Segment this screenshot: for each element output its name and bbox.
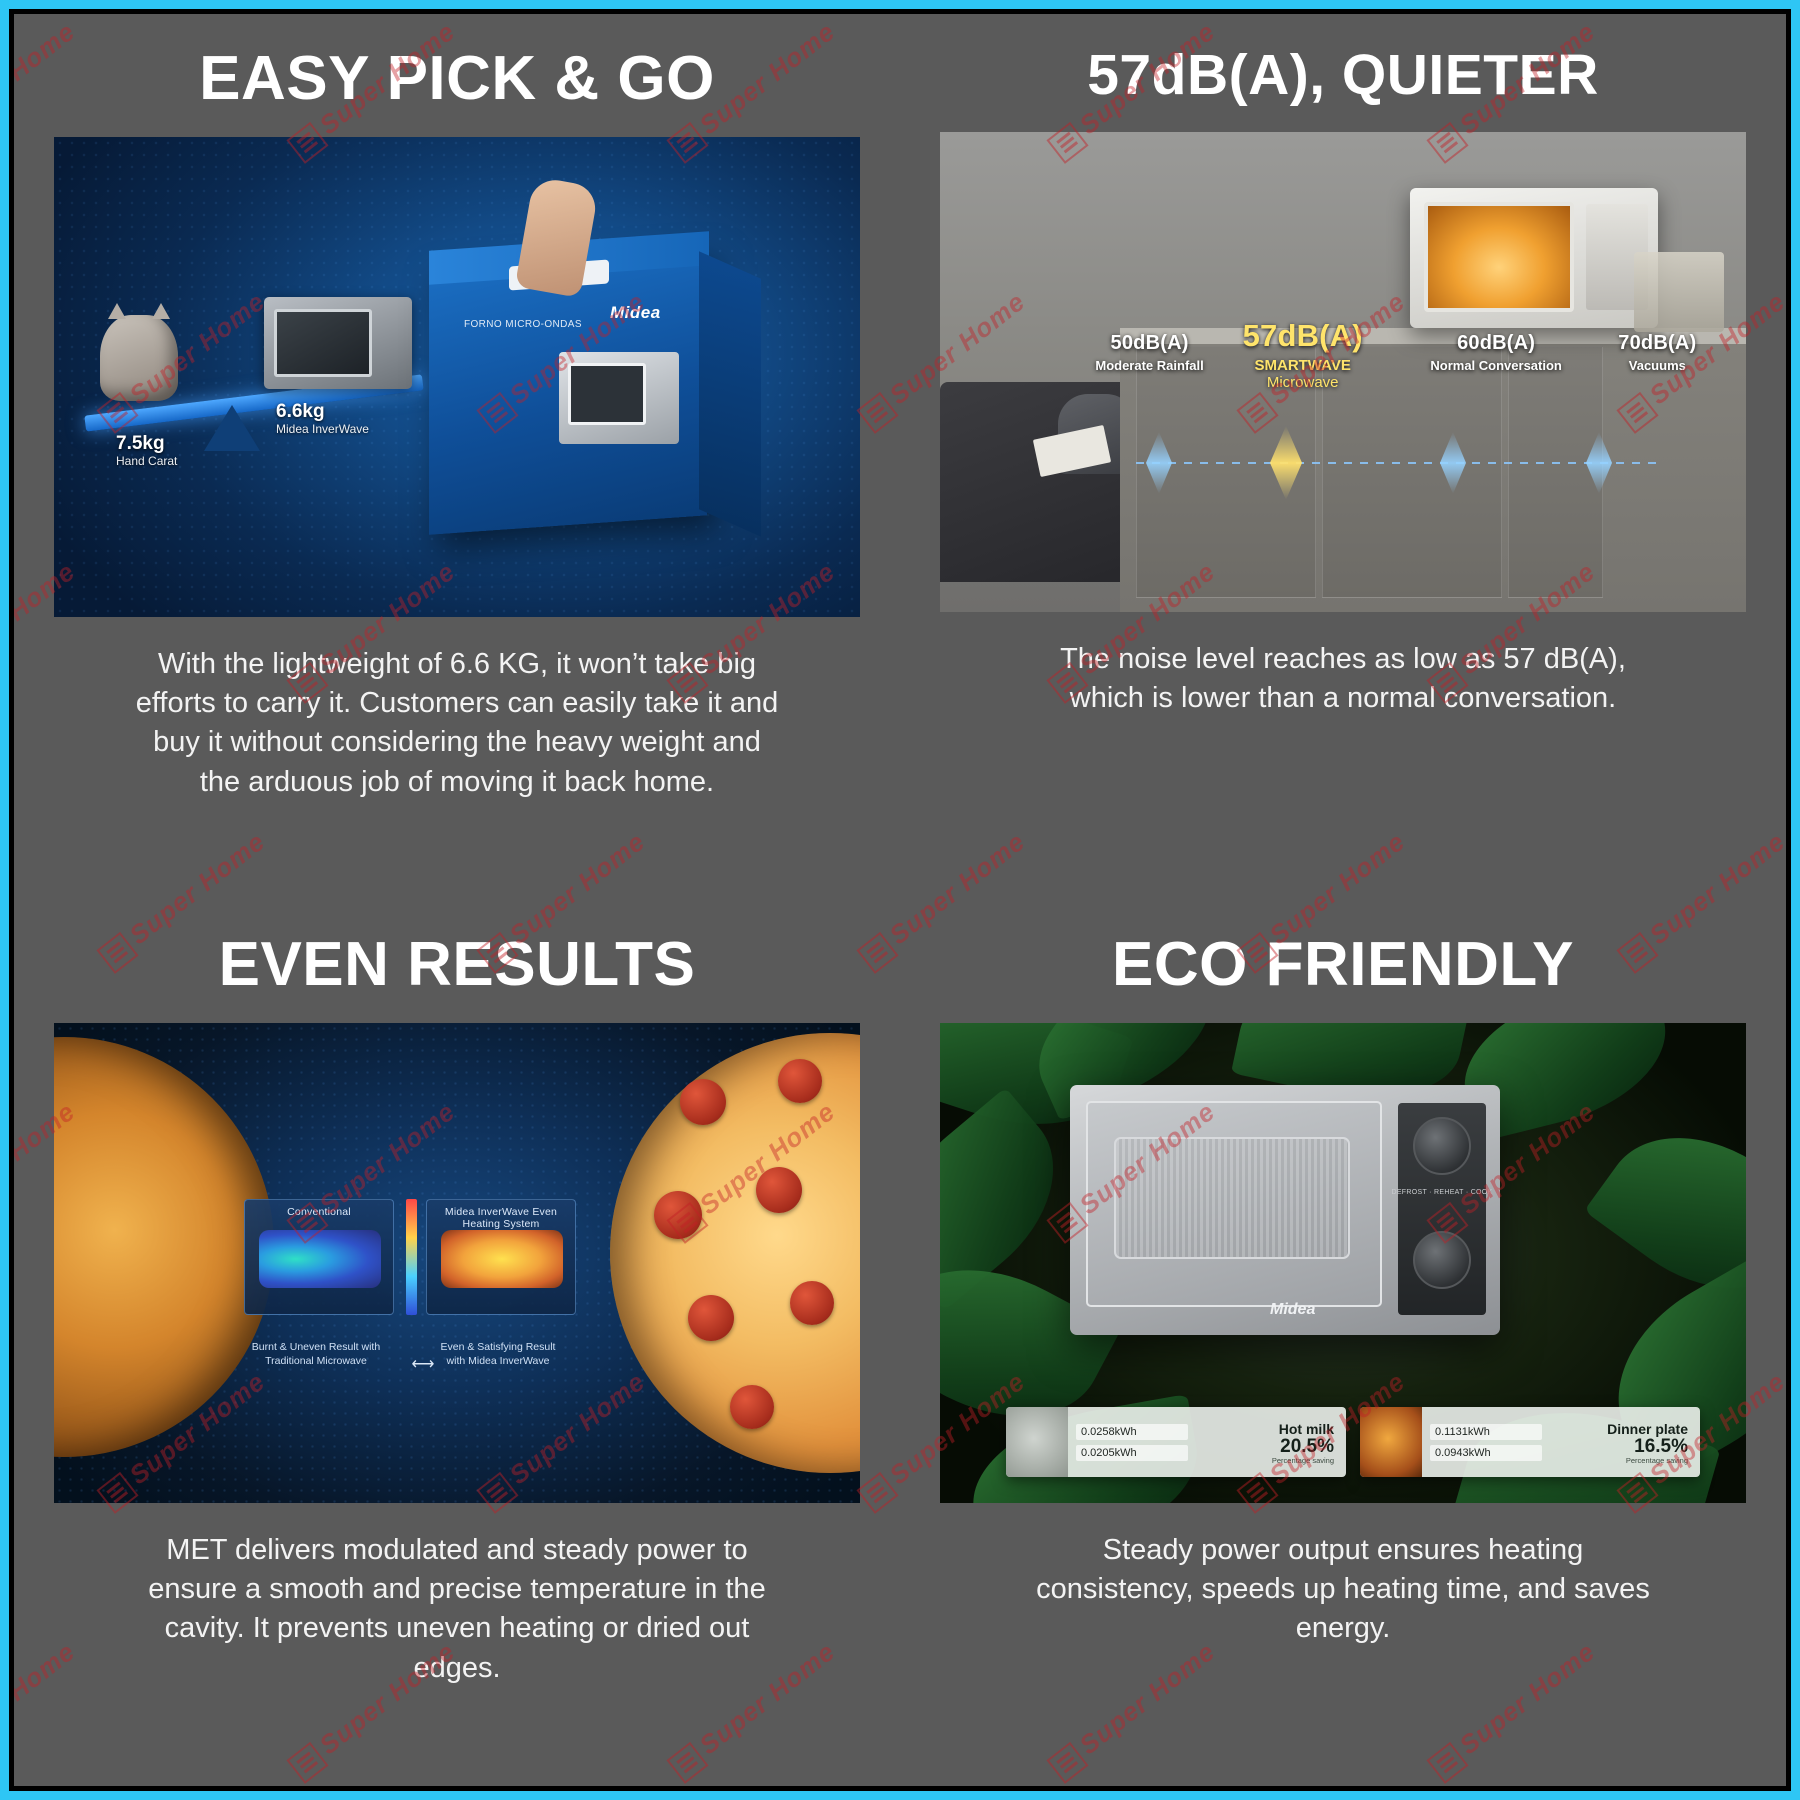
cat-figure xyxy=(100,315,178,401)
pepperoni xyxy=(778,1059,822,1103)
saving-caption: Percentage saving xyxy=(1202,1457,1334,1465)
food-name: Dinner plate xyxy=(1556,1421,1688,1437)
noise-value: 50dB(A) xyxy=(1095,332,1203,355)
panel-heading: 57dB(A), QUIETER xyxy=(1087,46,1599,106)
saving-caption: Percentage saving xyxy=(1556,1457,1688,1465)
energy-summary: Hot milk 20.5% Percentage saving xyxy=(1196,1407,1346,1477)
saving-percent: 20.5% xyxy=(1202,1437,1334,1457)
panel-easy-pick-and-go: EASY PICK & GO FORNO MICRO-ONDAS Midea xyxy=(14,14,900,900)
noise-label-57db: 57dB(A) SMARTWAVE Microwave xyxy=(1243,318,1363,391)
panel-heading: EASY PICK & GO xyxy=(199,46,715,111)
energy-card-hot-milk: 0.0258kWh 0.0205kWh Hot milk 20.5% Perce… xyxy=(1006,1407,1346,1477)
noise-value: 60dB(A) xyxy=(1430,332,1561,355)
noise-sublabel: Vacuums xyxy=(1618,358,1696,373)
microwave-control-panel: DEFROST · REHEAT · COOK xyxy=(1398,1103,1486,1315)
panel-image-even-results: Conventional Midea InverWave Even Heatin… xyxy=(54,1023,860,1503)
pepperoni xyxy=(756,1167,802,1213)
noise-sublabel: Moderate Rainfall xyxy=(1095,358,1203,373)
heatmap-card-title: Midea InverWave Even Heating System xyxy=(427,1200,575,1230)
weight-value: 6.6kg xyxy=(276,401,325,422)
grey-microwave: DEFROST · REHEAT · COOK Midea xyxy=(1070,1085,1500,1335)
noise-sublabel: Normal Conversation xyxy=(1430,358,1561,373)
product-box-side xyxy=(699,251,761,537)
power-knob[interactable] xyxy=(1413,1231,1471,1289)
energy-values: 0.0258kWh 0.0205kWh xyxy=(1068,1407,1196,1477)
heatmap-card-inverwave: Midea InverWave Even Heating System xyxy=(426,1199,576,1315)
microwave-on-seesaw xyxy=(264,297,412,389)
noise-label-60db: 60dB(A) Normal Conversation xyxy=(1430,332,1561,373)
weight-value: 7.5kg xyxy=(116,433,165,454)
panel-eco-friendly: ECO FRIENDLY xyxy=(900,900,1786,1786)
noise-sublabel: SMARTWAVE xyxy=(1243,357,1363,374)
noise-label-70db: 70dB(A) Vacuums xyxy=(1618,332,1696,373)
panel-caption: The noise level reaches as low as 57 dB(… xyxy=(1013,640,1673,718)
weight-sublabel: Hand Carat xyxy=(116,455,177,469)
saving-percent: 16.5% xyxy=(1556,1437,1688,1457)
panel-heading: EVEN RESULTS xyxy=(219,932,696,997)
pepperoni xyxy=(790,1281,834,1325)
heatmap-card-conventional: Conventional xyxy=(244,1199,394,1315)
pepperoni xyxy=(654,1191,702,1239)
noise-value: 70dB(A) xyxy=(1618,332,1696,355)
cabinet-door xyxy=(1508,346,1603,598)
pepperoni xyxy=(680,1079,726,1125)
energy-value-after: 0.0205kWh xyxy=(1076,1445,1188,1461)
panel-image-easy-pick-and-go: FORNO MICRO-ONDAS Midea 7.5kg Hand Carat… xyxy=(54,137,860,617)
food-name: Hot milk xyxy=(1202,1421,1334,1437)
box-top-text: FORNO MICRO-ONDAS xyxy=(464,319,582,330)
milk-glass-icon xyxy=(1006,1407,1068,1477)
infographic-sheet: EASY PICK & GO FORNO MICRO-ONDAS Midea xyxy=(0,0,1800,1800)
seesaw-fulcrum xyxy=(204,405,260,451)
noise-scale-axis xyxy=(1136,462,1656,464)
weight-label-microwave: 6.6kg Midea InverWave xyxy=(276,401,369,437)
panel-even-results: EVEN RESULTS xyxy=(14,900,900,1786)
panel-image-eco-friendly: DEFROST · REHEAT · COOK Midea 0.0258kWh … xyxy=(940,1023,1746,1503)
control-panel-text: DEFROST · REHEAT · COOK xyxy=(1391,1189,1492,1196)
heatmap-uneven xyxy=(259,1230,381,1288)
box-brand-logo: Midea xyxy=(610,303,661,323)
weight-sublabel: Midea InverWave xyxy=(276,423,369,437)
panel-caption: MET delivers modulated and steady power … xyxy=(127,1531,787,1688)
energy-value-before: 0.1131kWh xyxy=(1430,1424,1542,1440)
pepperoni xyxy=(688,1295,734,1341)
noise-value: 57dB(A) xyxy=(1243,318,1363,354)
microwave-door xyxy=(1086,1101,1382,1307)
box-artwork-microwave xyxy=(559,352,679,444)
panel-heading: ECO FRIENDLY xyxy=(1112,932,1574,997)
panel-quieter: 57dB(A), QUIETER xyxy=(900,14,1786,900)
energy-value-before: 0.0258kWh xyxy=(1076,1424,1188,1440)
heatmap-card-title: Conventional xyxy=(245,1200,393,1218)
microwave-brand-logo: Midea xyxy=(1270,1301,1315,1319)
infographic-canvas: EASY PICK & GO FORNO MICRO-ONDAS Midea xyxy=(14,14,1786,1786)
heatmap-note-conventional: Burnt & Uneven Result with Traditional M… xyxy=(250,1341,382,1368)
microwave-window xyxy=(1424,202,1574,312)
dinner-plate-icon xyxy=(1360,1407,1422,1477)
heatmap-even xyxy=(441,1230,563,1288)
counter-jars xyxy=(1634,252,1724,332)
panel-caption: Steady power output ensures heating cons… xyxy=(1013,1531,1673,1648)
noise-label-50db: 50dB(A) Moderate Rainfall xyxy=(1095,332,1203,373)
energy-values: 0.1131kWh 0.0943kWh xyxy=(1422,1407,1550,1477)
panel-caption: With the lightweight of 6.6 KG, it won’t… xyxy=(127,645,787,802)
weight-label-hand-carat: 7.5kg Hand Carat xyxy=(116,433,177,469)
microwave-window xyxy=(1114,1137,1350,1259)
feature-panel-grid: EASY PICK & GO FORNO MICRO-ONDAS Midea xyxy=(14,14,1786,1786)
timer-knob[interactable] xyxy=(1413,1117,1471,1175)
energy-card-dinner-plate: 0.1131kWh 0.0943kWh Dinner plate 16.5% P… xyxy=(1360,1407,1700,1477)
heat-scale-bar xyxy=(406,1199,417,1315)
panel-image-quieter: 50dB(A) Moderate Rainfall 57dB(A) SMARTW… xyxy=(940,132,1746,612)
heatmap-note-inverwave: Even & Satisfying Result with Midea Inve… xyxy=(432,1341,564,1368)
noise-sublabel-2: Microwave xyxy=(1243,374,1363,391)
energy-value-after: 0.0943kWh xyxy=(1430,1445,1542,1461)
white-microwave xyxy=(1410,188,1658,328)
pepperoni xyxy=(730,1385,774,1429)
energy-summary: Dinner plate 16.5% Percentage saving xyxy=(1550,1407,1700,1477)
